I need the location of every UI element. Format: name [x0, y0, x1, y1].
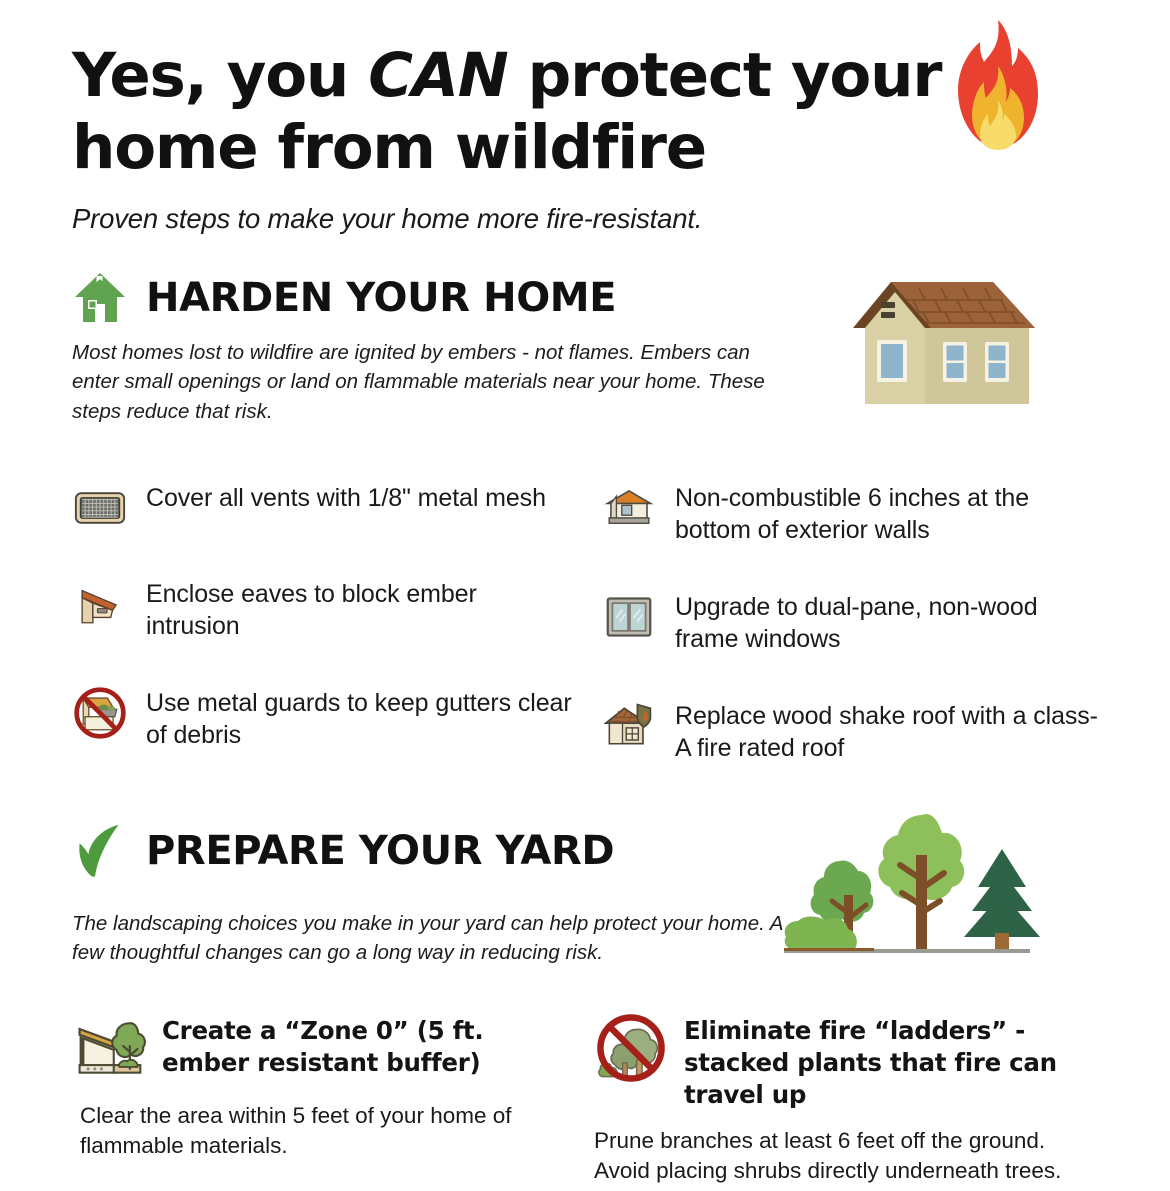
- bullet-text: Non-combustible 6 inches at the bottom o…: [675, 482, 1098, 547]
- bullet-text: Use metal guards to keep gutters clear o…: [146, 687, 577, 752]
- green-leaf-icon: [72, 823, 128, 879]
- bullet-gutter-guards: Use metal guards to keep gutters clear o…: [72, 687, 577, 752]
- house-illustration: [843, 262, 1058, 422]
- bullet-text: Cover all vents with 1/8" metal mesh: [146, 482, 546, 515]
- card-header: Eliminate fire “ladders” - stacked plant…: [594, 1011, 1098, 1111]
- dual-pane-window-icon: [601, 591, 657, 643]
- trees-illustration: [780, 809, 1070, 964]
- bullet-noncombustible-walls: Non-combustible 6 inches at the bottom o…: [601, 482, 1098, 547]
- zone-zero-icon: [72, 1011, 146, 1085]
- infographic-page: Yes, you CAN protect your home from wild…: [0, 0, 1170, 1191]
- card-zone-zero: Create a “Zone 0” (5 ft. ember resistant…: [72, 1011, 572, 1186]
- yard-cards: Create a “Zone 0” (5 ft. ember resistant…: [72, 1011, 1098, 1186]
- eave-icon: [72, 578, 128, 630]
- bullet-vent-mesh: Cover all vents with 1/8" metal mesh: [72, 482, 577, 534]
- card-body: Prune branches at least 6 feet off the g…: [594, 1126, 1098, 1185]
- no-clogged-gutter-icon: [72, 687, 128, 739]
- exterior-wall-base-icon: [601, 482, 657, 534]
- harden-bullet-grid: Cover all vents with 1/8" metal mesh Enc…: [72, 482, 1098, 765]
- card-header: Create a “Zone 0” (5 ft. ember resistant…: [72, 1011, 572, 1085]
- card-fire-ladders: Eliminate fire “ladders” - stacked plant…: [594, 1011, 1098, 1186]
- card-title: Eliminate fire “ladders” - stacked plant…: [684, 1011, 1098, 1111]
- bullet-text: Upgrade to dual-pane, non-wood frame win…: [675, 591, 1098, 656]
- harden-bullets-right: Non-combustible 6 inches at the bottom o…: [601, 482, 1098, 765]
- bullet-dual-pane-windows: Upgrade to dual-pane, non-wood frame win…: [601, 591, 1098, 656]
- title-part-1: Yes, you: [72, 40, 368, 111]
- green-house-icon: [72, 270, 128, 326]
- bullet-text: Enclose eaves to block ember intrusion: [146, 578, 577, 643]
- section-description-yard: The landscaping choices you make in your…: [72, 909, 802, 967]
- fire-rated-roof-icon: [601, 700, 657, 752]
- card-title: Create a “Zone 0” (5 ft. ember resistant…: [162, 1011, 572, 1079]
- section-description-harden: Most homes lost to wildfire are ignited …: [72, 338, 772, 425]
- section-title-yard: PREPARE YOUR YARD: [146, 828, 614, 874]
- bullet-class-a-roof: Replace wood shake roof with a class-A f…: [601, 700, 1098, 765]
- section-title-harden: HARDEN YOUR HOME: [146, 275, 616, 321]
- no-fire-ladder-icon: [594, 1011, 668, 1085]
- page-subtitle: Proven steps to make your home more fire…: [72, 202, 1098, 236]
- header: Yes, you CAN protect your home from wild…: [72, 0, 1098, 236]
- page-title: Yes, you CAN protect your home from wild…: [72, 40, 952, 184]
- card-body: Clear the area within 5 feet of your hom…: [80, 1101, 572, 1160]
- section-prepare-your-yard: PREPARE YOUR YARD The landscaping choice…: [72, 823, 1098, 1186]
- vent-mesh-icon: [72, 482, 128, 534]
- bullet-text: Replace wood shake roof with a class-A f…: [675, 700, 1098, 765]
- section-harden-your-home: HARDEN YOUR HOME Most homes lost to wild…: [72, 270, 1098, 764]
- title-emphasis: CAN: [368, 40, 507, 111]
- harden-bullets-left: Cover all vents with 1/8" metal mesh Enc…: [72, 482, 577, 765]
- bullet-enclose-eaves: Enclose eaves to block ember intrusion: [72, 578, 577, 643]
- fire-emoji: [944, 18, 1048, 158]
